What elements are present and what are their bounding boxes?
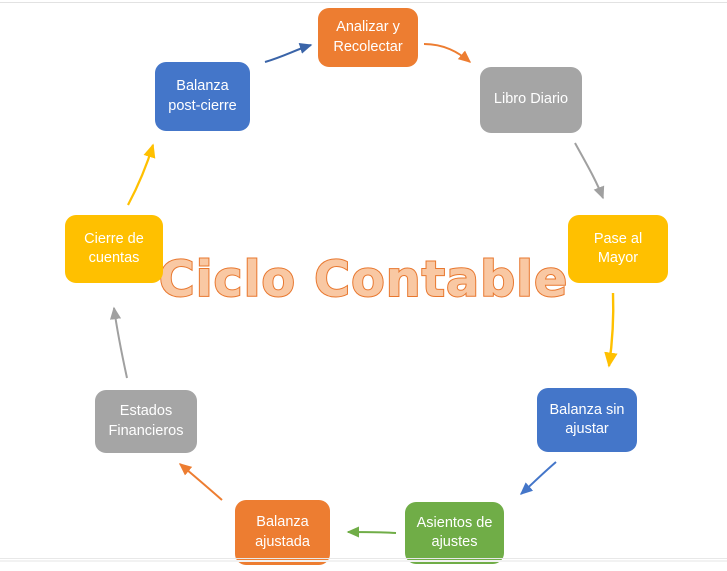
arrow-libro-to-pase: [575, 143, 603, 198]
arrow-analizar-to-libro: [424, 44, 470, 62]
node-cierre-de-cuentas[interactable]: Cierre de cuentas: [65, 215, 163, 283]
node-libro-diario[interactable]: Libro Diario: [480, 67, 582, 133]
arrow-estados-to-cierre: [114, 308, 127, 378]
bottom-divider-line-2: [0, 560, 727, 562]
node-balanza-sin-ajustar[interactable]: Balanza sin ajustar: [537, 388, 637, 452]
node-asientos-de-ajustes[interactable]: Asientos de ajustes: [405, 502, 504, 564]
arrow-ajustada-to-estados: [180, 464, 222, 500]
bottom-divider-line: [0, 558, 727, 559]
arrow-asientos-to-ajustada: [348, 532, 396, 533]
node-estados-financieros[interactable]: Estados Financieros: [95, 390, 197, 453]
node-balanza-post-cierre[interactable]: Balanza post-cierre: [155, 62, 250, 131]
top-divider-line: [0, 2, 727, 3]
arrow-sinajustar-to-asientos: [521, 462, 556, 494]
diagram-canvas: Ciclo Contable Analizar y Recolectar Lib…: [0, 0, 727, 571]
node-pase-al-mayor[interactable]: Pase al Mayor: [568, 215, 668, 283]
node-balanza-ajustada[interactable]: Balanza ajustada: [235, 500, 330, 565]
arrow-cierre-to-postcierre: [128, 145, 153, 205]
arrow-postcierre-to-analizar: [265, 45, 311, 62]
node-analizar-y-recolectar[interactable]: Analizar y Recolectar: [318, 8, 418, 67]
